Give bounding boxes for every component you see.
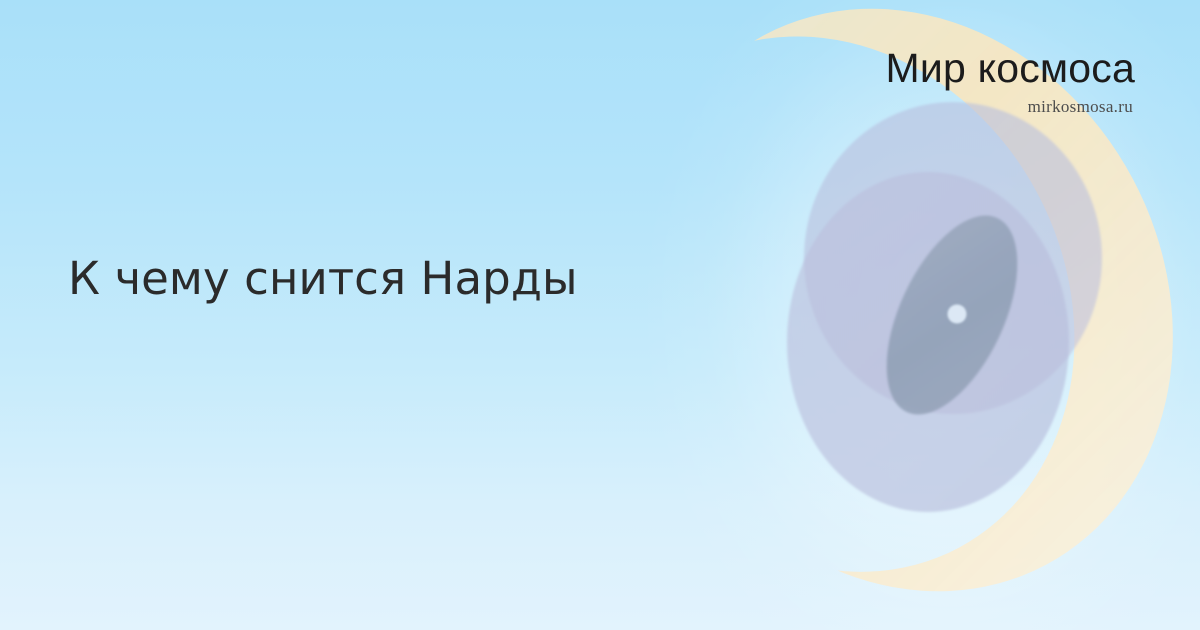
- core-dot: [948, 305, 967, 324]
- share-card: Мир космоса mirkosmosa.ru К чему снится …: [0, 0, 1200, 630]
- site-url: mirkosmosa.ru: [886, 98, 1133, 115]
- orb-upper: [804, 102, 1102, 414]
- site-logo[interactable]: Мир космоса mirkosmosa.ru: [886, 48, 1135, 115]
- core-ellipse: [860, 196, 1045, 434]
- orb-lower: [787, 172, 1069, 512]
- page-title: К чему снится Нарды: [68, 252, 688, 305]
- site-name: Мир космоса: [886, 48, 1135, 89]
